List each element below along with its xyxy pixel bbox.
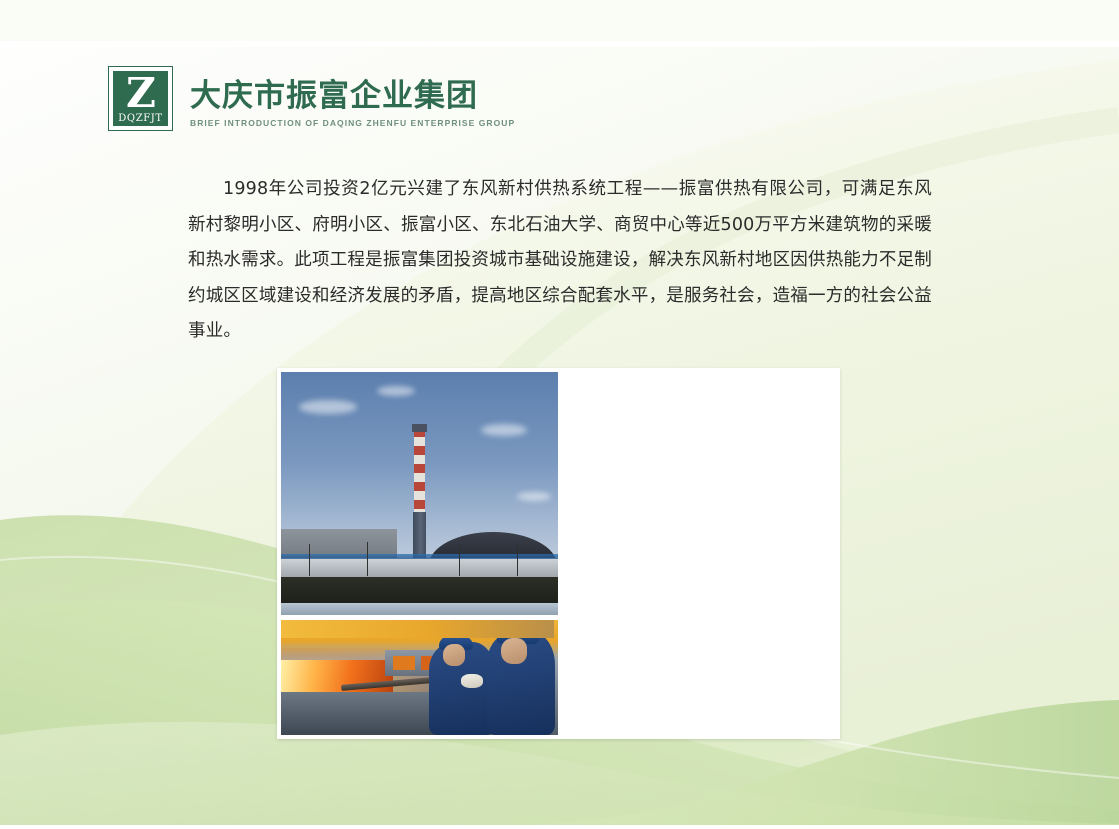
top-divider-rule [0,41,1119,47]
logo-abbreviation: DQZFJT [118,113,162,124]
brand-title-block: 大庆市振富企业集团 BRIEF INTRODUCTION OF DAQING Z… [190,78,515,129]
page-title: 大庆市振富企业集团 [190,78,515,114]
photo-plant-wide [281,372,558,615]
dqzfjt-logo-icon: Z DQZFJT [108,66,173,131]
photo-right-column [563,372,836,735]
body-paragraph: 1998年公司投资2亿元兴建了东风新村供热系统工程——振富供热有限公司，可满足东… [188,172,932,350]
brochure-page: Z DQZFJT 大庆市振富企业集团 BRIEF INTRODUCTION OF… [0,0,1119,829]
bottom-divider-rule [0,825,1119,829]
top-margin-band [0,0,1119,41]
logo-letter-z: Z [126,72,155,114]
brand-header: Z DQZFJT 大庆市振富企业集团 BRIEF INTRODUCTION OF… [108,66,515,131]
logo-inner-block: Z DQZFJT [113,71,168,126]
photo-collage [277,368,840,739]
page-subtitle: BRIEF INTRODUCTION OF DAQING ZHENFU ENTE… [190,117,515,129]
photo-furnace-crew [281,620,558,735]
